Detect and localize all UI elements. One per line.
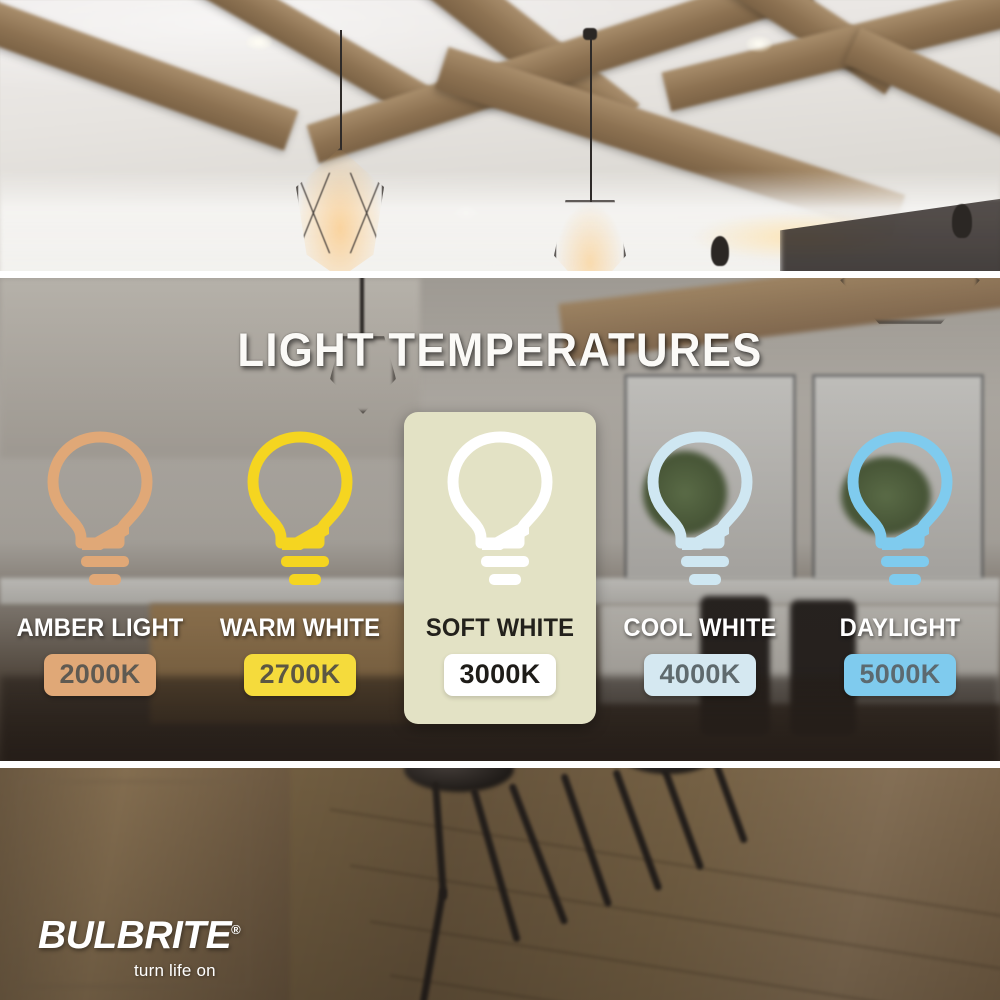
temperature-label: WARM WHITE	[205, 614, 395, 643]
pendant-light-right	[530, 0, 650, 278]
bulb-icon	[400, 430, 600, 590]
kelvin-badge[interactable]: 4000K	[644, 654, 755, 696]
infographic-canvas: LIGHT TEMPERATURES AMBER LIGHT	[0, 0, 1000, 1000]
recessed-light	[246, 34, 272, 50]
badge-row: 5000K	[800, 654, 1000, 696]
mini-pendant	[711, 236, 729, 266]
top-photo-band	[0, 0, 1000, 278]
pendant-cord	[340, 30, 342, 150]
temperature-column-amber-light[interactable]: AMBER LIGHT 2000K	[0, 278, 200, 763]
pendant-cage-icon	[296, 148, 384, 278]
temperature-column-cool-white[interactable]: COOL WHITE 4000K	[600, 278, 800, 763]
temperature-column-warm-white[interactable]: WARM WHITE 2700K	[200, 278, 400, 763]
brand-logo: BULBRITE® turn life on	[38, 916, 338, 981]
kelvin-badge[interactable]: 2700K	[244, 654, 355, 696]
pendant-cord	[590, 38, 592, 202]
temperature-column-daylight[interactable]: DAYLIGHT 5000K	[800, 278, 1000, 763]
temperature-label: DAYLIGHT	[805, 614, 995, 643]
kelvin-badge[interactable]: 2000K	[44, 654, 155, 696]
temperature-column-soft-white[interactable]: SOFT WHITE 3000K	[400, 278, 600, 763]
registered-mark: ®	[231, 922, 240, 937]
mini-pendant	[952, 204, 972, 238]
brand-name: BULBRITE®	[38, 916, 338, 955]
bulb-icon	[600, 430, 800, 590]
divider-bottom	[0, 761, 1000, 768]
badge-row: 2000K	[0, 654, 200, 696]
recessed-light	[746, 36, 772, 52]
brand-name-text: BULBRITE	[38, 914, 231, 957]
divider-top	[0, 271, 1000, 278]
temperature-label: SOFT WHITE	[405, 614, 595, 643]
bulb-icon	[200, 430, 400, 590]
badge-row: 4000K	[600, 654, 800, 696]
bulb-icon	[0, 430, 200, 590]
badge-row: 2700K	[200, 654, 400, 696]
pendant-cage-icon	[554, 200, 626, 278]
temperature-label: AMBER LIGHT	[5, 614, 195, 643]
kelvin-badge[interactable]: 5000K	[844, 654, 955, 696]
kelvin-badge[interactable]: 3000K	[444, 654, 555, 696]
brand-tagline: turn life on	[134, 961, 338, 981]
pendant-light-left	[280, 30, 400, 278]
temperature-row: AMBER LIGHT 2000K WARM WHITE	[0, 278, 1000, 763]
bulb-icon	[800, 430, 1000, 590]
temperature-label: COOL WHITE	[605, 614, 795, 643]
badge-row: 3000K	[400, 654, 600, 696]
